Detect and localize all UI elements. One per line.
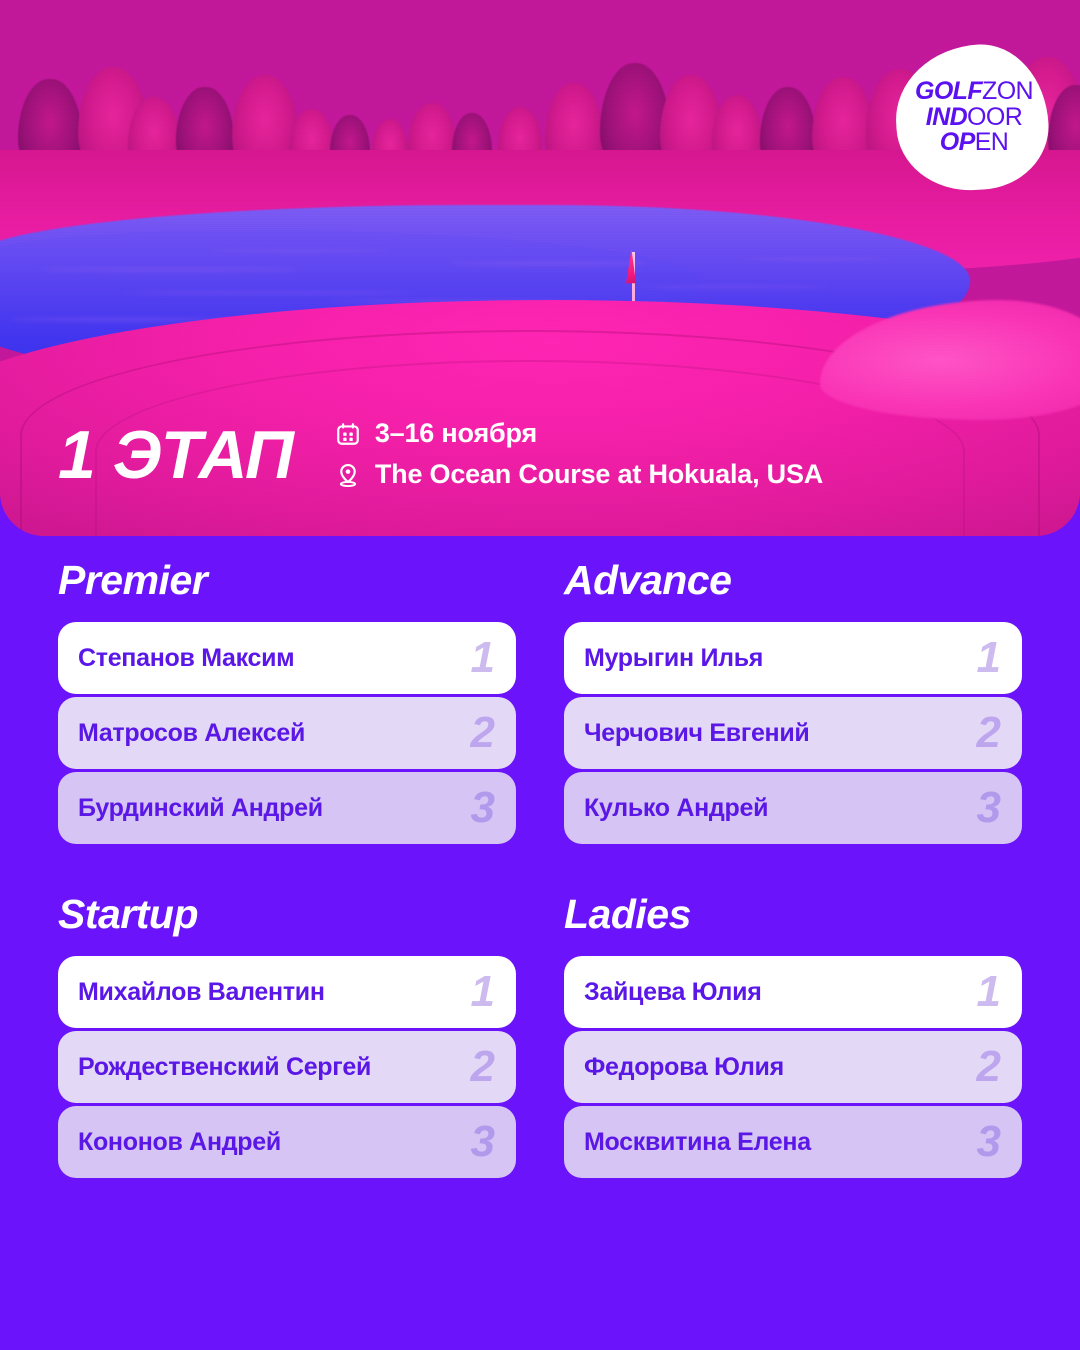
- logo-line1-rest: ZON: [982, 77, 1033, 105]
- rank-place: 2: [977, 711, 1000, 755]
- player-name: Кулько Андрей: [584, 794, 768, 823]
- event-meta: 3–16 ноября The Ocean Course at Hokuala,…: [335, 418, 823, 492]
- rank-row[interactable]: Мурыгин Илья1: [564, 622, 1022, 694]
- player-name: Рождественский Сергей: [78, 1053, 371, 1082]
- logo-line2-rest: OOR: [967, 103, 1022, 131]
- player-name: Кононов Андрей: [78, 1128, 281, 1157]
- player-name: Степанов Максим: [78, 644, 294, 673]
- event-location-row: The Ocean Course at Hokuala, USA: [335, 459, 823, 490]
- rank-place: 1: [471, 636, 494, 680]
- group-title: Advance: [564, 560, 1022, 601]
- rank-place: 1: [977, 636, 1000, 680]
- rank-row[interactable]: Кононов Андрей3: [58, 1106, 516, 1178]
- player-name: Михайлов Валентин: [78, 978, 325, 1007]
- rank-row[interactable]: Бурдинский Андрей3: [58, 772, 516, 844]
- rank-row[interactable]: Кулько Андрей3: [564, 772, 1022, 844]
- rank-row[interactable]: Рождественский Сергей2: [58, 1031, 516, 1103]
- logo-line3-bold: OP: [940, 128, 975, 156]
- player-name: Черчович Евгений: [584, 719, 810, 748]
- rank-row[interactable]: Москвитина Елена3: [564, 1106, 1022, 1178]
- location-pin-icon: [335, 462, 361, 488]
- event-date: 3–16 ноября: [375, 418, 537, 449]
- page-title: 1 ЭТАП: [58, 421, 293, 489]
- rank-place: 3: [471, 786, 494, 830]
- rank-place: 2: [977, 1045, 1000, 1089]
- results-grid: PremierСтепанов Максим1Матросов Алексей2…: [0, 560, 1080, 1178]
- rank-row[interactable]: Черчович Евгений2: [564, 697, 1022, 769]
- rank-place: 3: [977, 786, 1000, 830]
- event-date-row: 3–16 ноября: [335, 418, 823, 449]
- rank-row[interactable]: Матросов Алексей2: [58, 697, 516, 769]
- rank-place: 1: [977, 970, 1000, 1014]
- logo-wordmark: GOLFZON INDOOR OPEN: [911, 79, 1033, 156]
- player-name: Мурыгин Илья: [584, 644, 763, 673]
- group-ladies: LadiesЗайцева Юлия1Федорова Юлия2Москвит…: [564, 894, 1022, 1178]
- rank-list: Зайцева Юлия1Федорова Юлия2Москвитина Ел…: [564, 956, 1022, 1178]
- rank-list: Степанов Максим1Матросов Алексей2Бурдинс…: [58, 622, 516, 844]
- rank-row[interactable]: Степанов Максим1: [58, 622, 516, 694]
- rank-place: 1: [471, 970, 494, 1014]
- group-title: Premier: [58, 560, 516, 601]
- player-name: Зайцева Юлия: [584, 978, 762, 1007]
- rank-place: 3: [977, 1120, 1000, 1164]
- rank-row[interactable]: Федорова Юлия2: [564, 1031, 1022, 1103]
- group-advance: AdvanceМурыгин Илья1Черчович Евгений2Кул…: [564, 560, 1022, 844]
- player-name: Москвитина Елена: [584, 1128, 811, 1157]
- player-name: Матросов Алексей: [78, 719, 305, 748]
- hero-banner: GOLFZON INDOOR OPEN 1 ЭТАП 3–: [0, 0, 1080, 536]
- rank-list: Мурыгин Илья1Черчович Евгений2Кулько Анд…: [564, 622, 1022, 844]
- tournament-results-poster: GOLFZON INDOOR OPEN 1 ЭТАП 3–: [0, 0, 1080, 1350]
- group-title: Ladies: [564, 894, 1022, 935]
- rank-place: 2: [471, 1045, 494, 1089]
- rank-row[interactable]: Зайцева Юлия1: [564, 956, 1022, 1028]
- group-startup: StartupМихайлов Валентин1Рождественский …: [58, 894, 516, 1178]
- rank-place: 3: [471, 1120, 494, 1164]
- rank-row[interactable]: Михайлов Валентин1: [58, 956, 516, 1028]
- event-location: The Ocean Course at Hokuala, USA: [375, 459, 823, 490]
- calendar-icon: [335, 421, 361, 447]
- player-name: Федорова Юлия: [584, 1053, 784, 1082]
- logo-line3-rest: EN: [975, 128, 1009, 156]
- logo-line1-bold: GOLF: [915, 77, 982, 105]
- logo-line2-bold: IND: [926, 103, 967, 131]
- rank-place: 2: [471, 711, 494, 755]
- group-premier: PremierСтепанов Максим1Матросов Алексей2…: [58, 560, 516, 844]
- rank-list: Михайлов Валентин1Рождественский Сергей2…: [58, 956, 516, 1178]
- player-name: Бурдинский Андрей: [78, 794, 323, 823]
- group-title: Startup: [58, 894, 516, 935]
- hero-caption: 1 ЭТАП 3–16 ноября: [58, 418, 1040, 492]
